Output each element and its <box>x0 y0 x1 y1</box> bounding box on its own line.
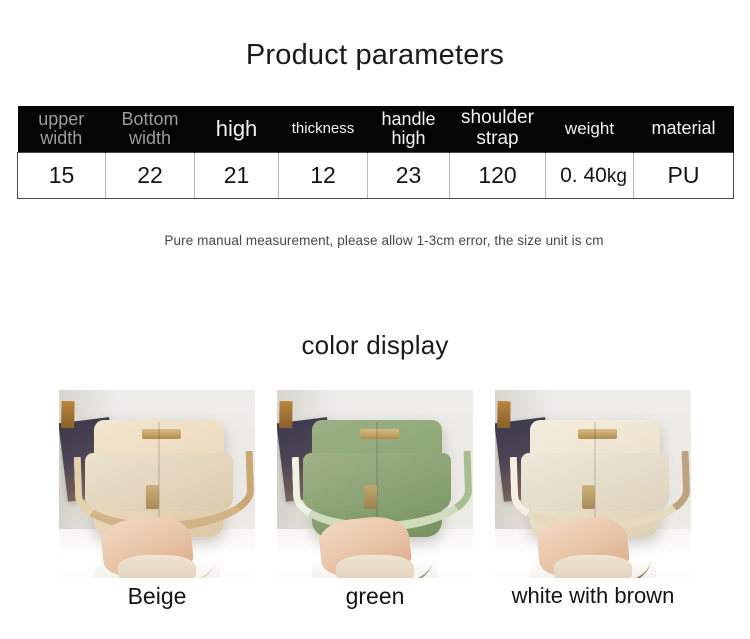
product-parameters-table: upper width Bottom width high thickness … <box>17 106 734 199</box>
column-header-thickness: thickness <box>279 106 368 153</box>
header-line-1: shoulder <box>450 108 545 129</box>
cell-handle-high: 23 <box>368 153 450 199</box>
column-header-high: high <box>195 106 279 153</box>
header-line-1: high <box>195 117 278 141</box>
column-header-weight: weight <box>546 106 634 153</box>
measurement-note: Pure manual measurement, please allow 1-… <box>0 233 750 248</box>
header-line-2: width <box>18 129 106 148</box>
column-header-upper-width: upper width <box>18 106 106 153</box>
spec-table-container: upper width Bottom width high thickness … <box>17 106 733 199</box>
cell-high: 21 <box>195 153 279 199</box>
header-line-2: high <box>368 129 449 148</box>
header-line-2: strap <box>450 129 545 150</box>
color-gallery <box>0 390 750 578</box>
cell-shoulder-strap: 120 <box>450 153 546 199</box>
page-title: Product parameters <box>0 39 750 72</box>
table-row: 15 22 21 12 23 120 0. 40kg PU <box>18 153 734 199</box>
column-header-shoulder-strap: shoulder strap <box>450 106 546 153</box>
clasp-hardware <box>578 429 617 438</box>
cell-thickness: 12 <box>279 153 368 199</box>
color-labels-row: Beige green white with brown <box>0 583 750 611</box>
table-header-row: upper width Bottom width high thickness … <box>18 106 734 153</box>
color-photo-white-with-brown[interactable] <box>495 390 691 578</box>
column-header-material: material <box>634 106 734 153</box>
clasp-hardware <box>360 429 399 438</box>
column-header-bottom-width: Bottom width <box>106 106 195 153</box>
header-line-1: Bottom <box>106 110 194 129</box>
photo-scene <box>495 390 691 578</box>
cell-material: PU <box>634 153 734 199</box>
color-label-white-with-brown: white with brown <box>495 583 691 611</box>
color-label-green: green <box>277 583 473 611</box>
header-line-2: width <box>106 129 194 148</box>
header-line-1: handle <box>368 110 449 129</box>
color-photo-green[interactable] <box>277 390 473 578</box>
color-label-beige: Beige <box>59 583 255 611</box>
clasp-hardware <box>142 429 181 438</box>
photo-scene <box>59 390 255 578</box>
color-photo-beige[interactable] <box>59 390 255 578</box>
weight-number: 0. 40 <box>560 164 607 187</box>
cell-weight: 0. 40kg <box>546 153 634 199</box>
cell-bottom-width: 22 <box>106 153 195 199</box>
header-line-1: upper <box>18 110 106 129</box>
weight-value-group: 0. 40kg <box>560 164 627 187</box>
header-line-1: material <box>634 119 733 138</box>
cell-upper-width: 15 <box>18 153 106 199</box>
header-line-1: thickness <box>279 121 367 137</box>
sleeve-cuff <box>554 555 632 578</box>
photo-scene <box>277 390 473 578</box>
weight-unit: kg <box>607 166 627 187</box>
header-line-1: weight <box>546 120 633 138</box>
column-header-handle-high: handle high <box>368 106 450 153</box>
sleeve-cuff <box>118 555 196 578</box>
color-display-title: color display <box>0 330 750 361</box>
sleeve-cuff <box>336 555 414 578</box>
